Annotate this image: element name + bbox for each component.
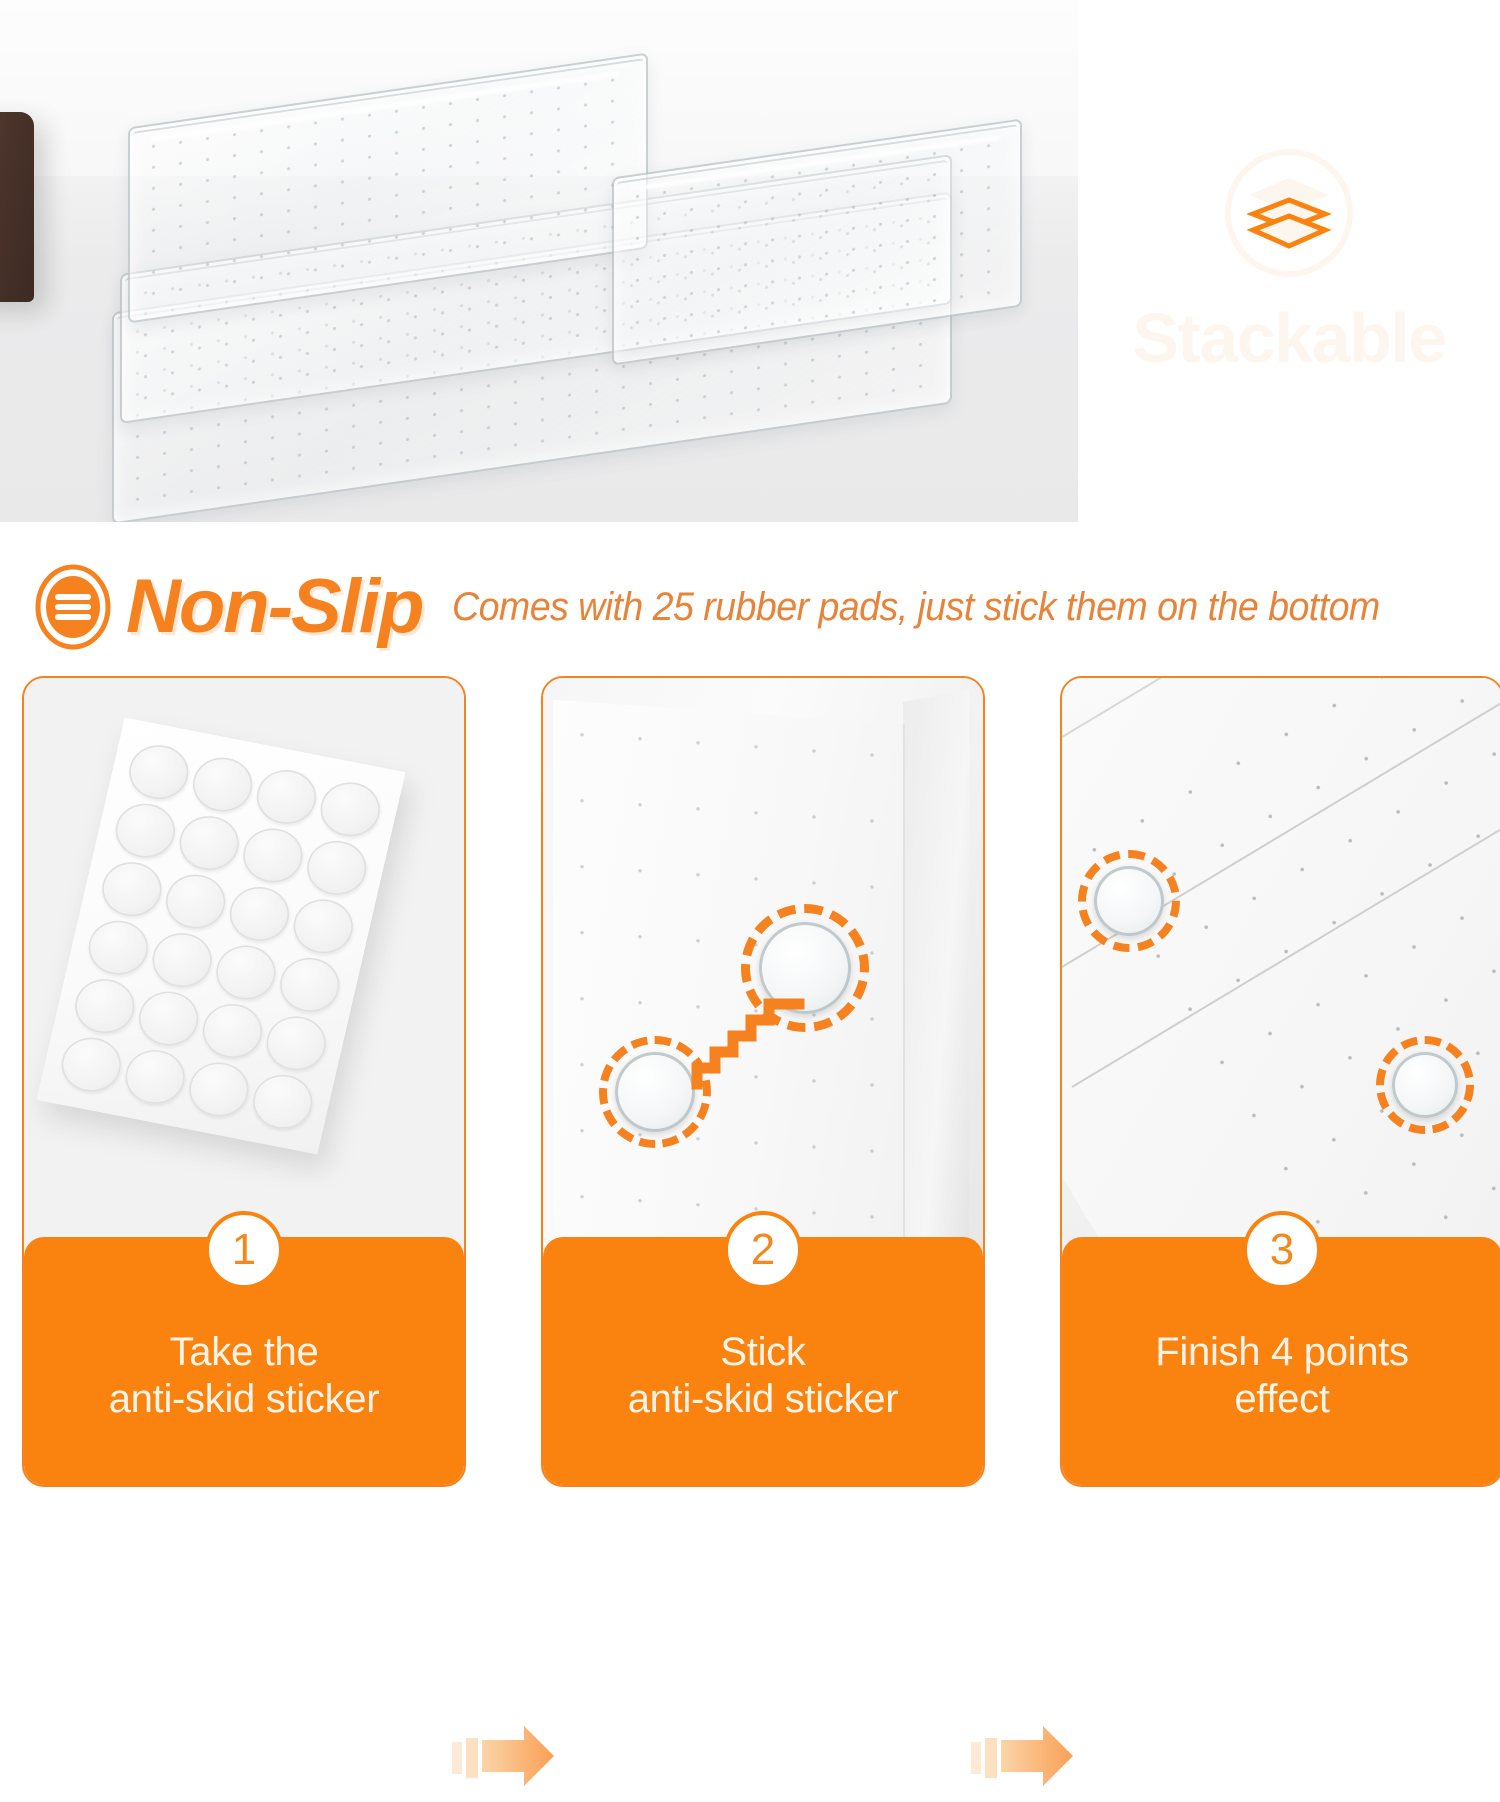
rubber-pad <box>302 836 372 900</box>
rubber-pad <box>211 940 281 1004</box>
step-panel-2: 2 Stick anti-skid sticker <box>541 676 985 1487</box>
non-slip-header: Non-Slip Comes with 25 rubber pads, just… <box>0 548 1500 666</box>
step-caption-text: Finish 4 points effect <box>1155 1329 1408 1423</box>
layers-icon <box>1225 149 1353 277</box>
rubber-pad <box>161 870 231 934</box>
non-slip-title: Non-Slip <box>126 569 422 645</box>
stackable-badge: Stackable <box>1078 0 1500 522</box>
step-3-photo <box>1062 678 1500 1258</box>
rubber-pad <box>224 882 294 946</box>
rubber-pad <box>238 823 308 887</box>
rubber-pad <box>315 777 385 841</box>
tray-side-face <box>903 690 969 1258</box>
rubber-pad <box>120 1045 190 1109</box>
step-caption-text: Stick anti-skid sticker <box>628 1329 899 1423</box>
pad-highlight-ring-top-left <box>1078 850 1180 952</box>
rubber-pad <box>288 894 358 958</box>
rubber-pad <box>83 916 153 980</box>
rubber-pad <box>174 811 244 875</box>
rubber-pad <box>134 987 204 1051</box>
step-1-to-2-arrow <box>450 1710 560 1802</box>
step-2-photo <box>543 678 983 1258</box>
steps-section: 1 Take the anti-skid sticker 2 Stick ant… <box>0 676 1500 1487</box>
rubber-pad <box>261 1011 331 1075</box>
rubber-pad <box>251 765 321 829</box>
rubber-pad <box>124 740 194 804</box>
rubber-pad <box>197 999 267 1063</box>
step-number-badge: 2 <box>724 1211 802 1289</box>
sticker-grid <box>56 740 385 1134</box>
step-2-to-3-arrow <box>969 1710 1079 1802</box>
rubber-pad <box>248 1070 318 1134</box>
step-number-badge: 1 <box>205 1211 283 1289</box>
step-number-badge: 3 <box>1243 1211 1321 1289</box>
step-panel-3: 3 Finish 4 points effect <box>1060 676 1500 1487</box>
step-1-photo <box>24 678 464 1258</box>
dark-brown-object <box>0 112 34 302</box>
rubber-pad <box>275 953 345 1017</box>
rubber-pad <box>97 857 167 921</box>
rubber-pad <box>147 928 217 992</box>
pad-highlight-ring-bottom-right <box>1376 1036 1474 1134</box>
rubber-pad <box>184 1057 254 1121</box>
rubber-pad <box>70 974 140 1038</box>
hero-section: Stackable <box>0 0 1500 522</box>
step-panel-1: 1 Take the anti-skid sticker <box>22 676 466 1487</box>
product-photo <box>0 0 1078 522</box>
rubber-pad <box>188 753 258 817</box>
sticker-sheet <box>37 718 406 1155</box>
stackable-title: Stackable <box>1132 303 1445 373</box>
rubber-pad <box>56 1033 126 1097</box>
non-slip-pads-icon <box>34 563 112 651</box>
step-caption-text: Take the anti-skid sticker <box>109 1329 380 1423</box>
zigzag-arrow <box>689 976 829 1096</box>
non-slip-subtitle: Comes with 25 rubber pads, just stick th… <box>452 587 1380 627</box>
rubber-pad <box>110 799 180 863</box>
